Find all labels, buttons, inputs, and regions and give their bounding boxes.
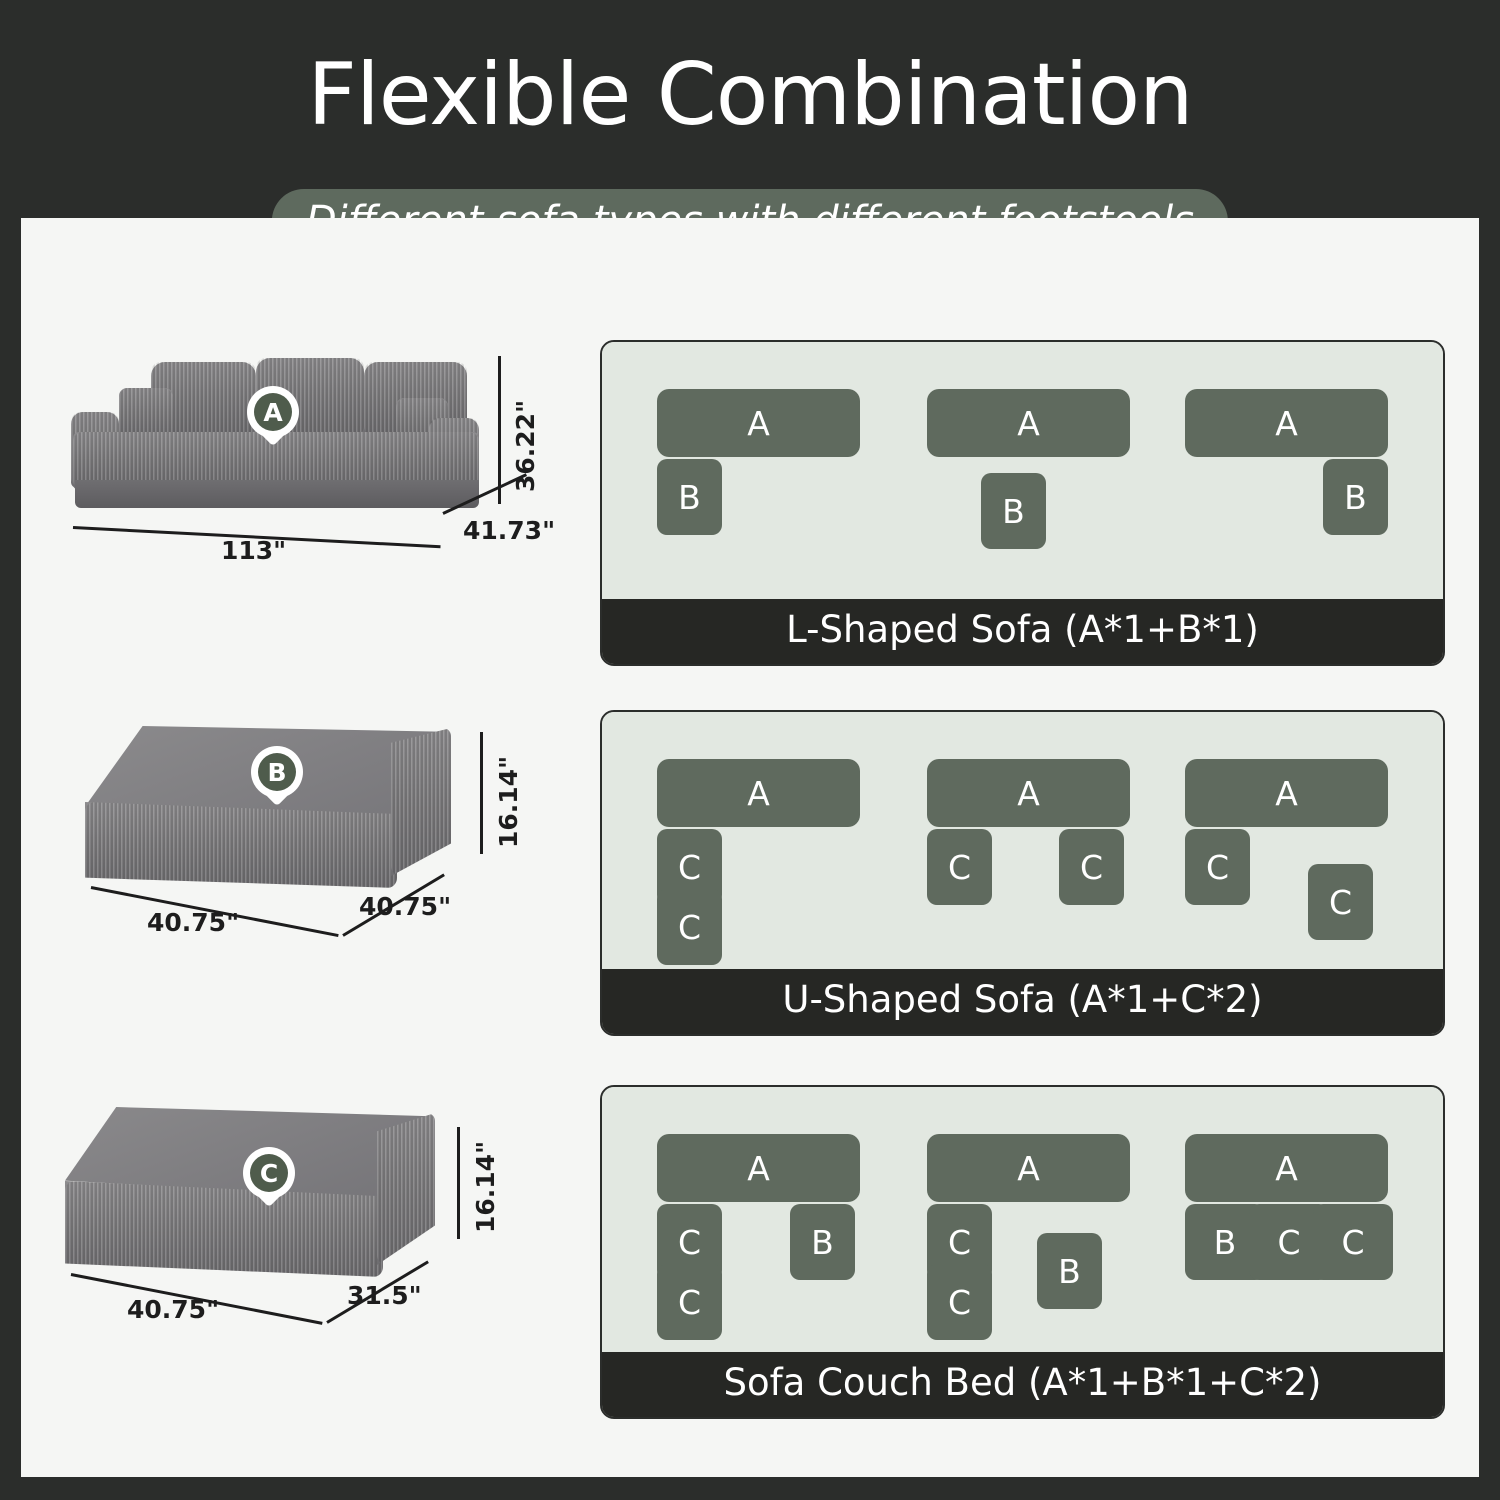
- dimension-height-c: 16.14": [471, 1141, 500, 1233]
- product-row-b: B 40.75" 40.75" 16.14" ACCACCACC U-Shape…: [21, 710, 1479, 1050]
- product-illustration-b: B 40.75" 40.75" 16.14": [51, 710, 591, 1050]
- module-block-c: C: [1313, 1204, 1393, 1280]
- module-block-c: C: [657, 1264, 722, 1340]
- combination-caption: U-Shaped Sofa (A*1+C*2): [602, 969, 1443, 1034]
- module-block-a: A: [1185, 1134, 1388, 1202]
- product-row-c: C 40.75" 31.5" 16.14" ACCBACCBABCC Sofa …: [21, 1085, 1479, 1435]
- marker-pin-b: B: [251, 746, 303, 812]
- combination-caption: Sofa Couch Bed (A*1+B*1+C*2): [602, 1352, 1443, 1417]
- dimension-depth-c: 31.5": [347, 1281, 422, 1310]
- header: Flexible Combination Different sofa type…: [0, 0, 1500, 218]
- module-block-b: B: [981, 473, 1046, 549]
- dimension-width-c: 40.75": [127, 1295, 219, 1324]
- marker-pin-c: C: [243, 1147, 295, 1213]
- module-block-c: C: [1059, 829, 1124, 905]
- module-block-b: B: [790, 1204, 855, 1280]
- module-block-a: A: [927, 759, 1130, 827]
- module-block-c: C: [927, 829, 992, 905]
- product-illustration-a: A 113" 41.73" 36.22": [51, 340, 591, 680]
- dimension-depth-a: 41.73": [463, 516, 555, 545]
- module-block-c: C: [927, 1264, 992, 1340]
- dimension-depth-b: 40.75": [359, 892, 451, 921]
- module-block-c: C: [1308, 864, 1373, 940]
- module-block-c: C: [657, 889, 722, 965]
- module-block-b: B: [1037, 1233, 1102, 1309]
- module-block-a: A: [1185, 759, 1388, 827]
- module-block-a: A: [927, 1134, 1130, 1202]
- pin-label: C: [250, 1154, 288, 1192]
- dimension-width-a: 113": [221, 536, 286, 565]
- module-block-a: A: [1185, 389, 1388, 457]
- combination-caption: L-Shaped Sofa (A*1+B*1): [602, 599, 1443, 664]
- product-row-a: A 113" 41.73" 36.22" ABABAB L-Shaped Sof…: [21, 340, 1479, 680]
- module-block-c: C: [1185, 829, 1250, 905]
- content-board: A 113" 41.73" 36.22" ABABAB L-Shaped Sof…: [21, 218, 1479, 1477]
- pin-label: A: [254, 393, 292, 431]
- module-block-a: A: [657, 1134, 860, 1202]
- dimension-height-b: 16.14": [494, 756, 523, 848]
- rect-footstool-drawing: C 40.75" 31.5" 16.14": [51, 1085, 511, 1435]
- marker-pin-a: A: [247, 386, 299, 452]
- module-block-b: B: [657, 459, 722, 535]
- product-illustration-c: C 40.75" 31.5" 16.14": [51, 1085, 591, 1435]
- dimension-height-a: 36.22": [511, 400, 540, 492]
- page-title: Flexible Combination: [0, 52, 1500, 138]
- combination-card-sofa-bed: ACCBACCBABCC Sofa Couch Bed (A*1+B*1+C*2…: [600, 1085, 1445, 1419]
- combination-card-u-shaped: ACCACCACC U-Shaped Sofa (A*1+C*2): [600, 710, 1445, 1036]
- infographic-page: Flexible Combination Different sofa type…: [0, 0, 1500, 1500]
- pin-label: B: [258, 753, 296, 791]
- sofa-drawing: A 113" 41.73" 36.22": [51, 340, 511, 680]
- combination-stage: ACCBACCBABCC: [602, 1087, 1443, 1352]
- dimension-width-b: 40.75": [147, 908, 239, 937]
- combination-stage: ACCACCACC: [602, 712, 1443, 969]
- module-block-b: B: [1323, 459, 1388, 535]
- module-block-a: A: [657, 759, 860, 827]
- combination-card-l-shaped: ABABAB L-Shaped Sofa (A*1+B*1): [600, 340, 1445, 666]
- square-footstool-drawing: B 40.75" 40.75" 16.14": [51, 710, 511, 1050]
- module-block-a: A: [927, 389, 1130, 457]
- combination-stage: ABABAB: [602, 342, 1443, 599]
- module-block-a: A: [657, 389, 860, 457]
